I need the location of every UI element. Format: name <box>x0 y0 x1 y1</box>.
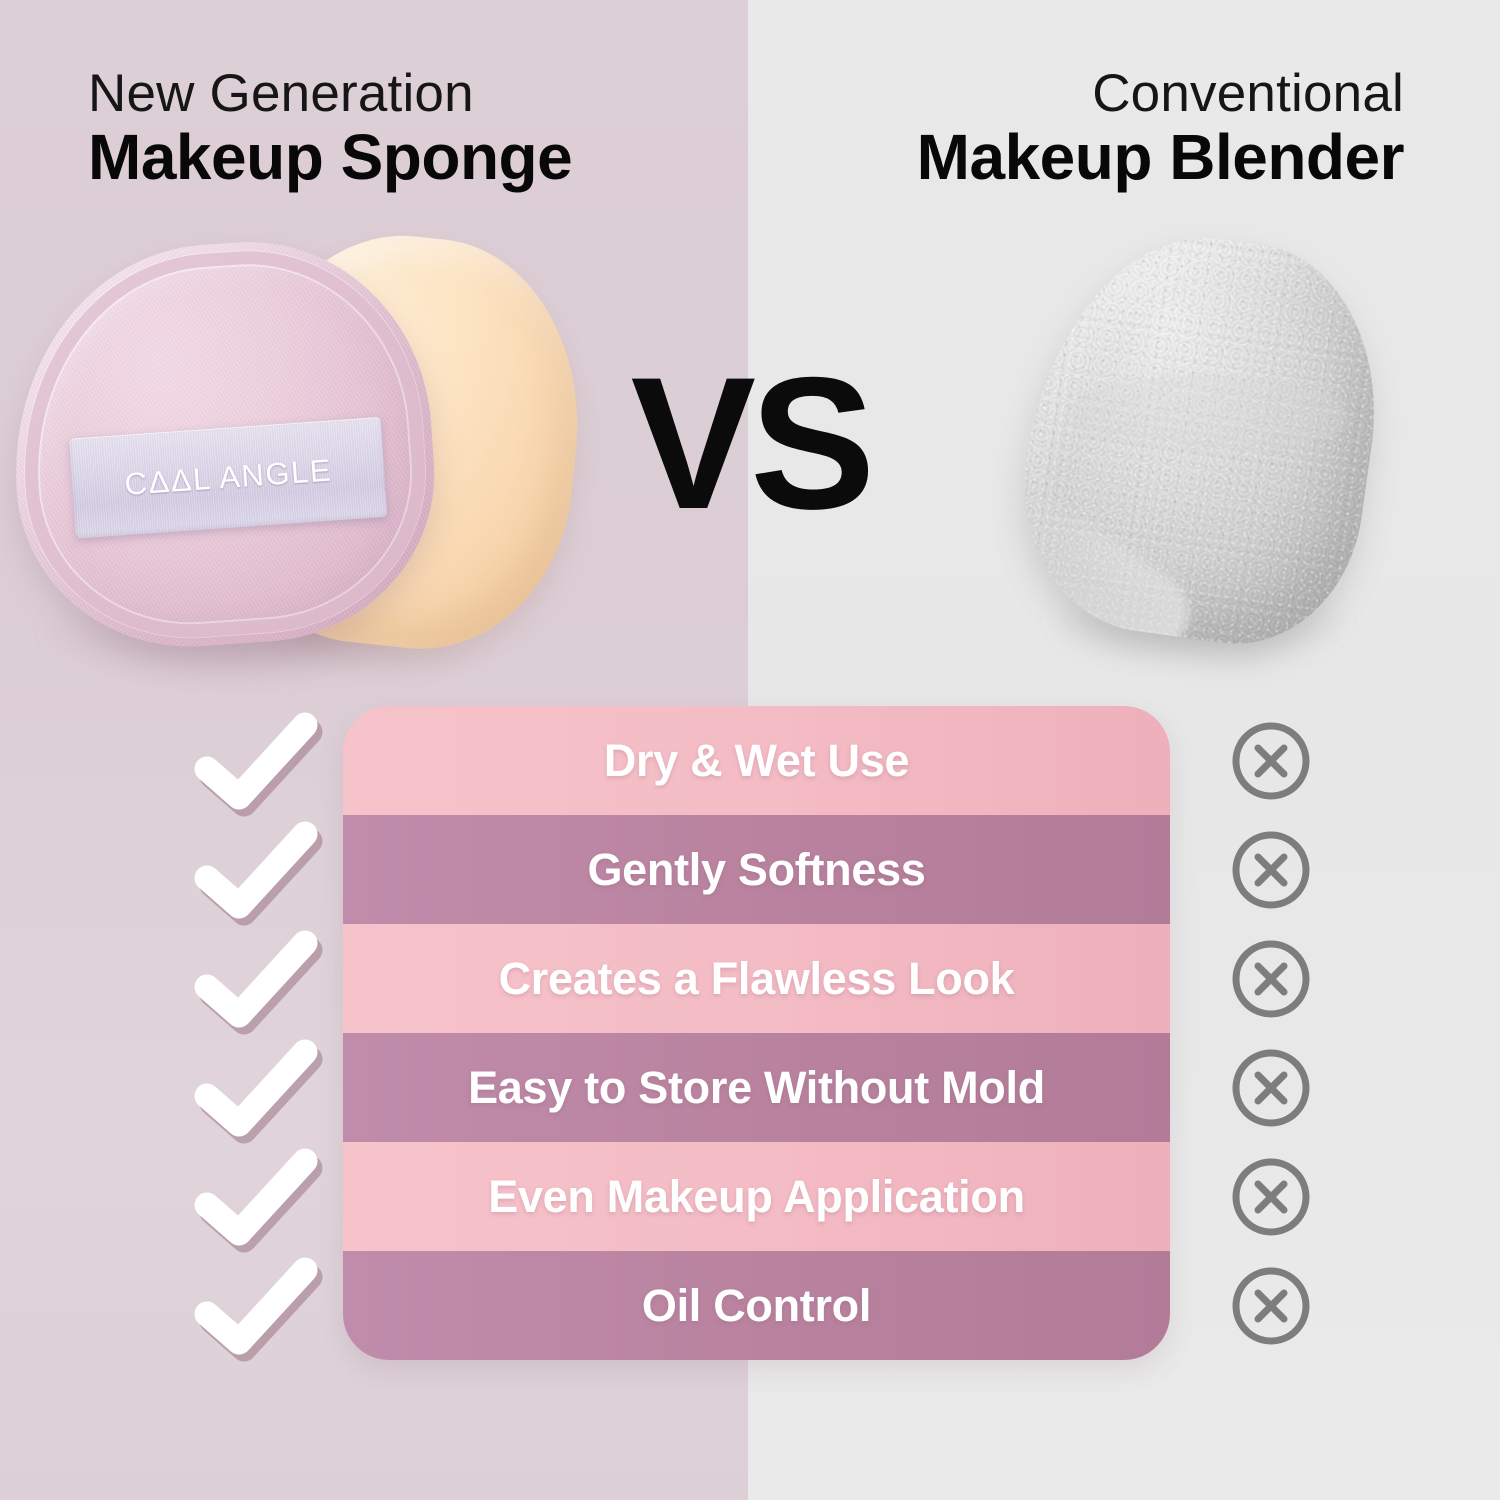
check-mark-icon <box>178 1251 338 1360</box>
circle-x-icon <box>1200 1142 1342 1251</box>
circle-x-icon <box>1200 924 1342 1033</box>
feature-row: Even Makeup Application <box>343 1142 1170 1251</box>
feature-row: Gently Softness <box>343 815 1170 924</box>
feature-label: Dry & Wet Use <box>604 735 909 787</box>
feature-label: Easy to Store Without Mold <box>468 1062 1045 1114</box>
feature-row: Easy to Store Without Mold <box>343 1033 1170 1142</box>
feature-comparison-panel: Dry & Wet UseGently SoftnessCreates a Fl… <box>343 706 1170 1360</box>
circle-x-icon <box>1200 815 1342 924</box>
beauty-blender-product-image <box>1005 232 1395 662</box>
check-mark-icon <box>178 815 338 924</box>
powder-puff-product-image: CΔΔL ANGLE <box>6 228 566 668</box>
check-mark-icon <box>178 1142 338 1251</box>
feature-label: Oil Control <box>642 1280 871 1332</box>
comparison-infographic: New Generation Makeup Sponge Conventiona… <box>0 0 1500 1500</box>
feature-label: Creates a Flawless Look <box>499 953 1015 1005</box>
feature-label: Gently Softness <box>587 844 925 896</box>
check-mark-column <box>178 706 338 1360</box>
brand-name-text: CΔΔL ANGLE <box>123 453 333 503</box>
right-column-header: Conventional Makeup Blender <box>917 66 1404 193</box>
versus-label: VS <box>631 349 870 537</box>
left-title-text: Makeup Sponge <box>88 122 572 194</box>
feature-row: Oil Control <box>343 1251 1170 1360</box>
feature-row: Dry & Wet Use <box>343 706 1170 815</box>
check-mark-icon <box>178 1033 338 1142</box>
check-mark-icon <box>178 924 338 1033</box>
circle-x-icon <box>1200 1033 1342 1142</box>
check-mark-icon <box>178 706 338 815</box>
right-eyebrow-text: Conventional <box>917 66 1404 122</box>
right-title-text: Makeup Blender <box>917 122 1404 194</box>
left-column-header: New Generation Makeup Sponge <box>88 66 572 193</box>
circle-x-icon <box>1200 706 1342 815</box>
left-eyebrow-text: New Generation <box>88 66 572 122</box>
cross-mark-column <box>1200 706 1342 1360</box>
circle-x-icon <box>1200 1251 1342 1360</box>
feature-label: Even Makeup Application <box>488 1171 1025 1223</box>
feature-row: Creates a Flawless Look <box>343 924 1170 1033</box>
